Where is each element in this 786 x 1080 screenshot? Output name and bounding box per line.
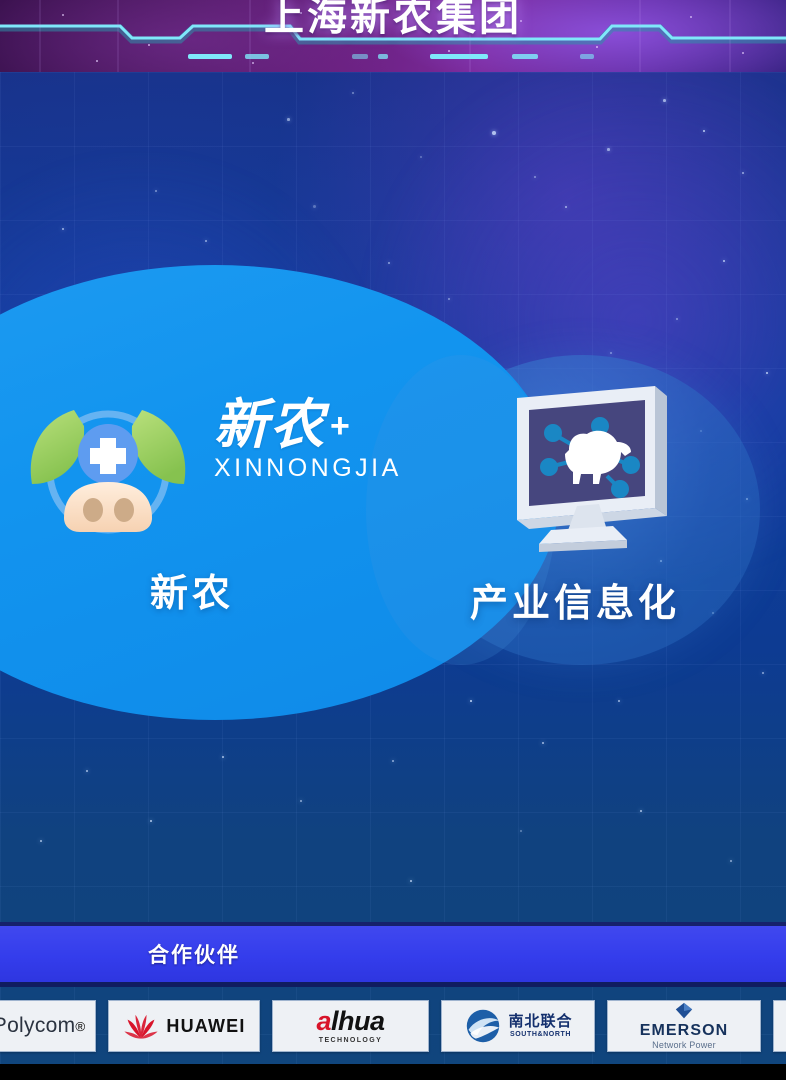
emerson-subtitle: Network Power xyxy=(652,1041,716,1050)
partner-logo-south-north[interactable]: 南北联合 SOUTH&NORTH xyxy=(441,1000,595,1052)
monitor-pig-network-icon xyxy=(495,380,685,570)
emerson-wordmark: EMERSON xyxy=(640,1023,729,1039)
partner-logo-strip[interactable]: Polycom® HUAWEI alhua TECHNOLOG xyxy=(0,1000,786,1052)
south-north-name-cn: 南北联合 xyxy=(508,1014,572,1029)
partner-logo-globe[interactable] xyxy=(773,1000,786,1052)
trademark-icon: ® xyxy=(75,1019,85,1034)
band-divider-bottom xyxy=(0,982,786,987)
brand-name-en: XINNONGJIA xyxy=(214,454,414,483)
south-north-name-en: SOUTH&NORTH xyxy=(510,1031,571,1038)
left-circle-label: 新农 xyxy=(150,562,234,617)
page-header: 上海新农集团 xyxy=(0,0,786,72)
partner-logo-polycom[interactable]: Polycom® xyxy=(0,1000,96,1052)
brand-logo-block[interactable]: 新农+ XINNONGJIA xyxy=(8,392,408,542)
partner-logo-huawei[interactable]: HUAWEI xyxy=(108,1000,260,1052)
huawei-wordmark: HUAWEI xyxy=(166,1016,245,1037)
pig-leaf-plus-logo-icon xyxy=(8,392,208,540)
right-circle-label: 产业信息化 xyxy=(470,572,680,627)
partners-title-bar: 合作伙伴 xyxy=(0,926,786,982)
red-petal-flower-icon xyxy=(122,1011,160,1041)
polycom-wordmark: Polycom xyxy=(0,1014,75,1038)
brand-name-cn: 新农 xyxy=(214,398,326,452)
partners-band: 合作伙伴 xyxy=(0,922,786,987)
partner-logo-emerson[interactable]: EMERSON Network Power xyxy=(607,1000,761,1052)
dahua-letter-a: a xyxy=(316,1006,331,1036)
blue-swoosh-globe-icon xyxy=(463,1008,503,1044)
partners-title: 合作伙伴 xyxy=(148,939,240,969)
partner-logo-dahua[interactable]: alhua TECHNOLOGY xyxy=(272,1000,429,1052)
page-title: 上海新农集团 xyxy=(0,0,786,42)
bottom-letterbox xyxy=(0,1064,786,1080)
app-screen: 上海新农集团 新农+ xyxy=(0,0,786,1080)
brand-plus-icon: + xyxy=(330,407,350,445)
dahua-subtitle: TECHNOLOGY xyxy=(319,1037,382,1044)
blue-diamond-icon xyxy=(674,1002,694,1020)
brand-wordmark: 新农+ XINNONGJIA xyxy=(214,398,414,483)
dahua-wordmark: lhua xyxy=(331,1006,385,1036)
